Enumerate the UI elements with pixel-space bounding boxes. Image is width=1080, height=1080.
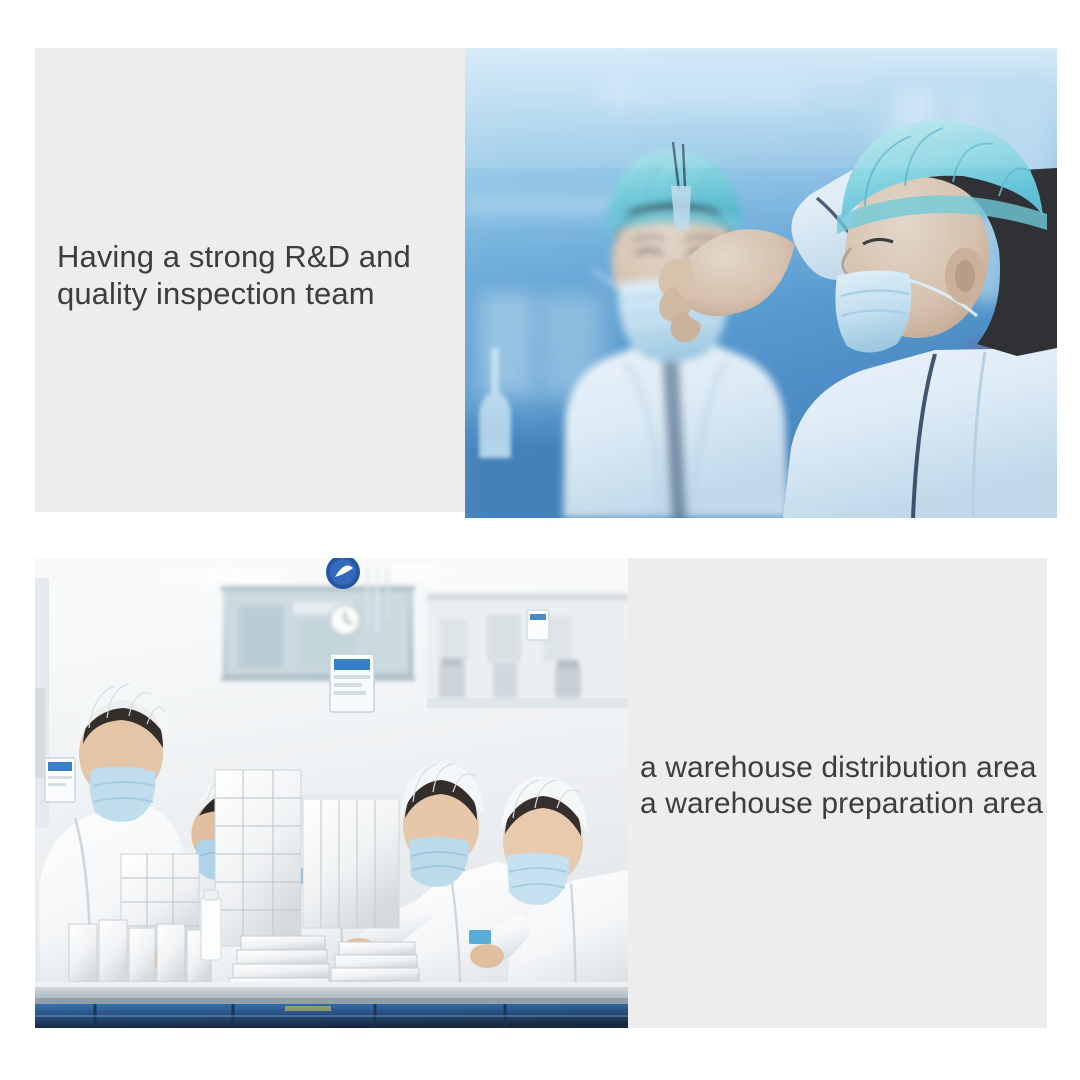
caption-line-1: Having a strong R&D and <box>57 238 457 275</box>
caption-line-2: a warehouse preparation area <box>640 786 1060 822</box>
section-warehouse-areas: a warehouse distribution area a warehous… <box>35 558 1047 1028</box>
lab-photo-illustration <box>465 48 1057 518</box>
lab-quality-inspection-photo <box>465 48 1057 518</box>
caption-line-1: a warehouse distribution area <box>640 750 1060 786</box>
caption-rnd-quality: Having a strong R&D and quality inspecti… <box>57 238 457 312</box>
warehouse-packing-photo <box>35 558 628 1028</box>
section-rnd-quality: Having a strong R&D and quality inspecti… <box>35 48 1057 518</box>
caption-line-2: quality inspection team <box>57 275 457 312</box>
caption-warehouse-areas: a warehouse distribution area a warehous… <box>640 750 1060 822</box>
warehouse-photo-illustration <box>35 558 628 1028</box>
